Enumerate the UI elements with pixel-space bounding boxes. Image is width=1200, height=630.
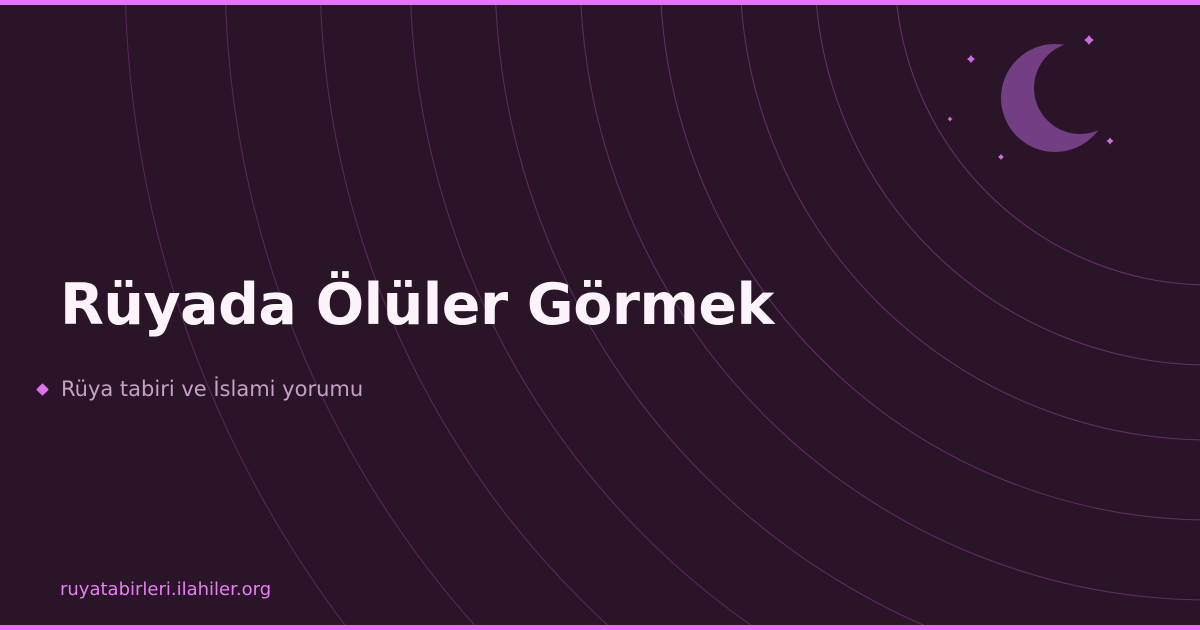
site-url: ruyatabirleri.ilahiler.org bbox=[60, 581, 271, 599]
social-preview-card: Rüyada Ölüler Görmek Rüya tabiri ve İsla… bbox=[0, 0, 1200, 630]
card-content: Rüyada Ölüler Görmek Rüya tabiri ve İsla… bbox=[0, 0, 1200, 630]
subtitle-row: Rüya tabiri ve İslami yorumu bbox=[38, 379, 363, 400]
diamond-bullet-icon bbox=[36, 383, 49, 396]
page-title: Rüyada Ölüler Görmek bbox=[60, 274, 774, 337]
subtitle-text: Rüya tabiri ve İslami yorumu bbox=[61, 379, 363, 400]
